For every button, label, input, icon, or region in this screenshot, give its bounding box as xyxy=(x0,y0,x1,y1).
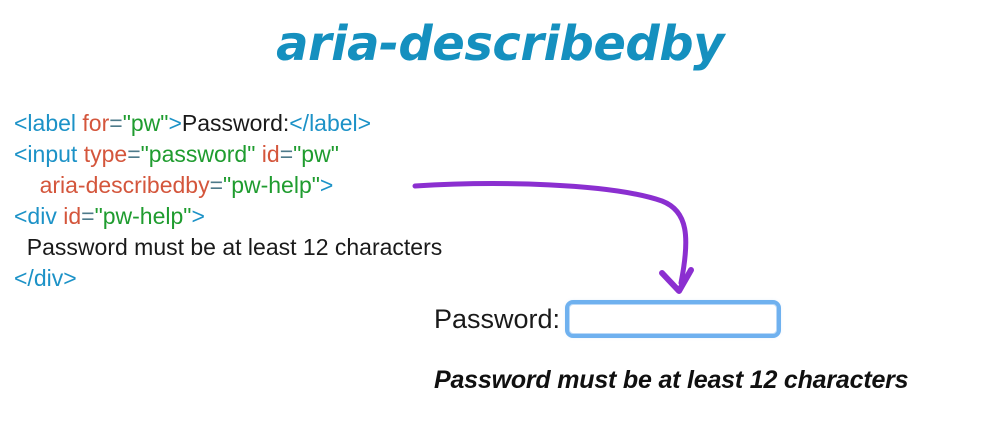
code-token-tag: <div xyxy=(14,203,63,229)
code-token-attr: for xyxy=(82,110,109,136)
code-token-tag: > xyxy=(168,110,181,136)
code-token-val: "pw" xyxy=(123,110,169,136)
page-title: aria-describedby xyxy=(0,16,1000,72)
password-help-text: Password must be at least 12 characters xyxy=(434,366,954,395)
code-token-eq: = xyxy=(210,172,223,198)
code-line: <label for="pw">Password:</label> xyxy=(14,108,442,139)
code-token-val: "pw" xyxy=(293,141,339,167)
password-label: Password: xyxy=(434,306,569,333)
slide-canvas: aria-describedby <label for="pw">Passwor… xyxy=(0,0,1000,441)
code-line: <div id="pw-help"> xyxy=(14,201,442,232)
code-token-eq: = xyxy=(109,110,122,136)
code-token-val: "pw-help" xyxy=(223,172,320,198)
code-token-tag: > xyxy=(191,203,204,229)
code-token-val: "pw-help" xyxy=(95,203,192,229)
code-token-eq: = xyxy=(280,141,293,167)
code-token-val: "password" xyxy=(141,141,256,167)
code-token-eq: = xyxy=(127,141,140,167)
code-token-tag: </label> xyxy=(289,110,371,136)
code-token-tag: <input xyxy=(14,141,84,167)
code-token-attr: type xyxy=(84,141,127,167)
code-token-tag: > xyxy=(320,172,333,198)
password-field-row: Password: xyxy=(434,298,954,340)
code-snippet: <label for="pw">Password:</label><input … xyxy=(14,108,442,294)
code-line: Password must be at least 12 characters xyxy=(14,232,442,263)
code-token-text xyxy=(14,172,40,198)
code-line: aria-describedby="pw-help"> xyxy=(14,170,442,201)
annotation-arrow-icon xyxy=(400,165,720,305)
rendered-demo-form: Password: Password must be at least 12 c… xyxy=(434,298,954,395)
code-token-tag: <label xyxy=(14,110,82,136)
code-token-text: Password must be at least 12 characters xyxy=(14,234,442,260)
code-token-text: Password: xyxy=(182,110,289,136)
code-token-attr: id xyxy=(262,141,280,167)
code-token-tag: </div> xyxy=(14,265,77,291)
code-line: </div> xyxy=(14,263,442,294)
code-token-attr: id xyxy=(63,203,81,229)
password-input[interactable] xyxy=(569,304,777,334)
code-token-attr: aria-describedby xyxy=(40,172,210,198)
code-token-eq: = xyxy=(81,203,94,229)
code-line: <input type="password" id="pw" xyxy=(14,139,442,170)
